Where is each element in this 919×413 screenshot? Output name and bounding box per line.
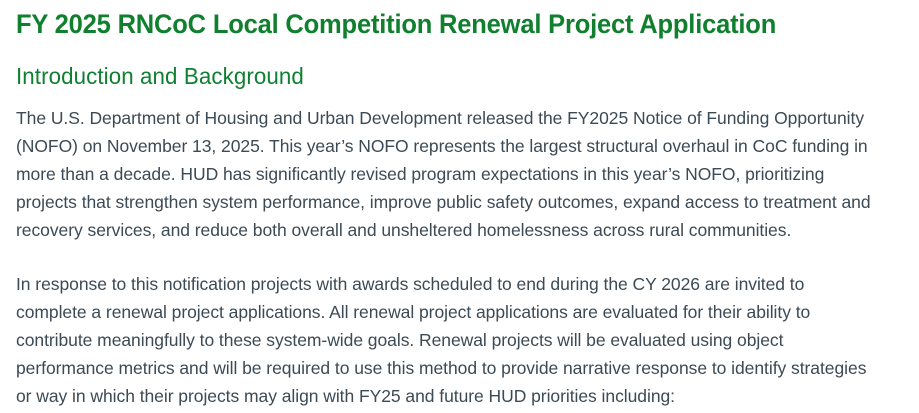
document-page: FY 2025 RNCoC Local Competition Renewal … <box>0 0 919 413</box>
body-paragraph-2: In response to this notification project… <box>16 270 878 410</box>
page-title: FY 2025 RNCoC Local Competition Renewal … <box>16 8 848 40</box>
body-paragraph-1: The U.S. Department of Housing and Urban… <box>16 104 878 244</box>
document-body: The U.S. Department of Housing and Urban… <box>16 104 878 410</box>
section-heading-introduction-and-background: Introduction and Background <box>16 62 304 91</box>
